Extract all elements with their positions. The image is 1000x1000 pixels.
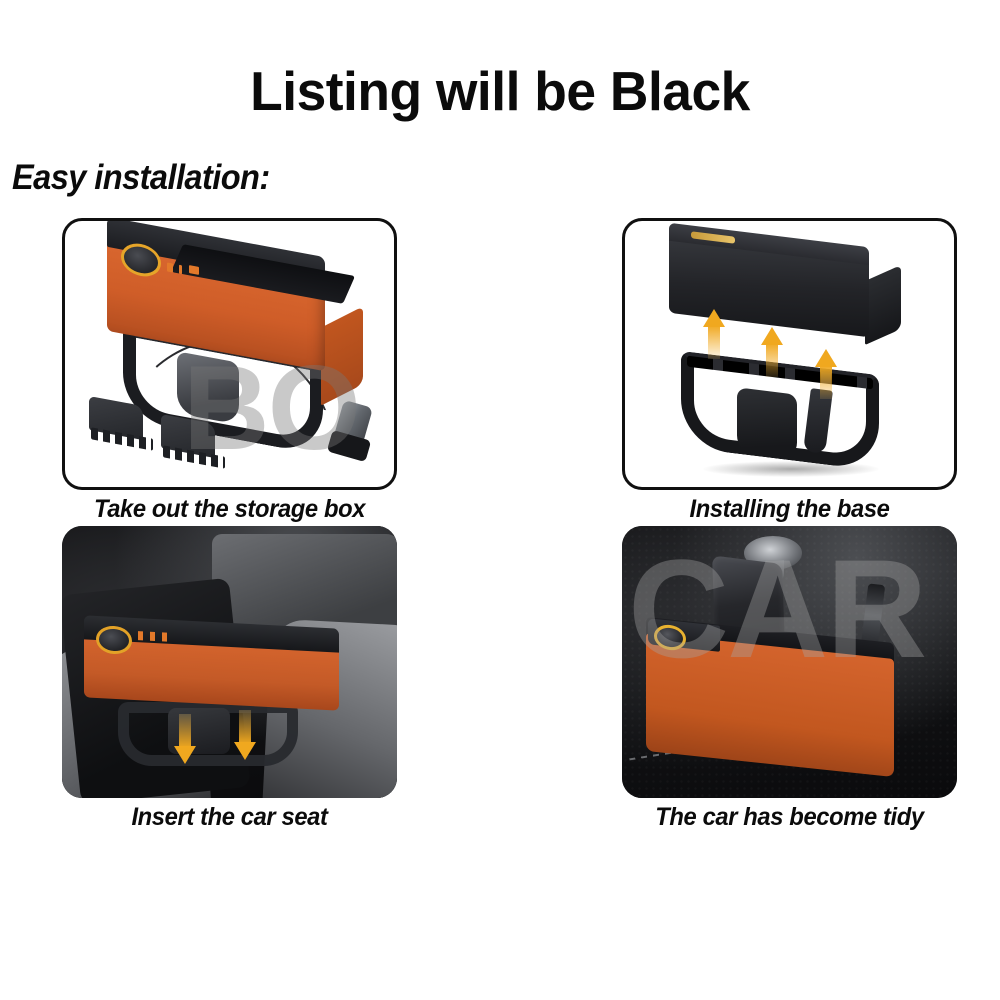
bracket-clamp-tab (737, 387, 797, 460)
black-box-end-cap (865, 265, 901, 345)
usb-port-icon-c (189, 265, 199, 275)
section-subtitle: Easy installation: (12, 158, 270, 198)
step-image-panel-3 (62, 526, 397, 798)
arrow-up-icon-3 (815, 349, 837, 399)
arrow-up-icon-2 (761, 327, 783, 377)
arrow-down-icon-2 (234, 710, 256, 760)
illustration-base-install (625, 221, 954, 487)
step-image-panel-2 (622, 218, 957, 490)
step-card-car-has-become-tidy: CAR The car has become tidy (622, 526, 957, 832)
arrow-up-icon-1 (703, 309, 725, 359)
usb-port-icon-a (167, 262, 173, 272)
step-card-installing-the-base: Installing the base (622, 218, 957, 524)
illustration-exploded-product: BO (65, 221, 394, 487)
step-card-insert-the-car-seat: Insert the car seat (62, 526, 397, 832)
step-caption: Take out the storage box (70, 495, 388, 524)
step-image-panel-1: BO (62, 218, 397, 490)
step-card-take-out-storage-box: BO Take out the storage box (62, 218, 397, 524)
installation-steps-grid: BO Take out the storage box (0, 218, 1000, 858)
base-drop-shadow (703, 461, 879, 477)
storage-box-end-cap (321, 306, 363, 405)
step-caption: Insert the car seat (70, 803, 388, 832)
arrow-down-icon-1 (174, 714, 196, 764)
page-title: Listing will be Black (15, 63, 985, 121)
step-image-panel-4: CAR (622, 526, 957, 798)
usb-port-icons (138, 631, 172, 642)
step-caption: The car has become tidy (630, 803, 948, 832)
step-caption: Installing the base (630, 495, 948, 524)
usb-port-icon-b (179, 265, 182, 275)
